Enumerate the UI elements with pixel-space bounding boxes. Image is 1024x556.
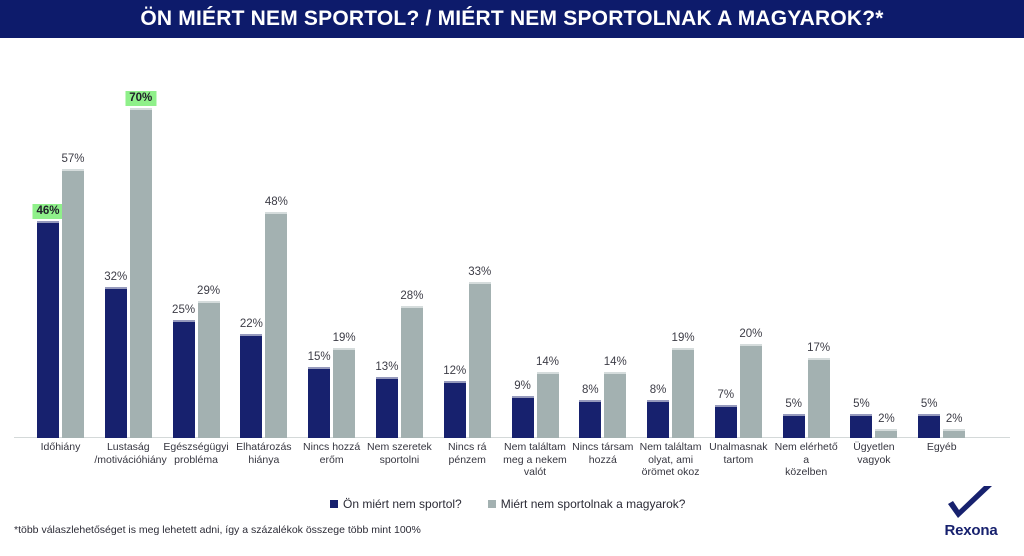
- bar-value-label: 2%: [946, 413, 963, 426]
- legend-swatch-icon: [330, 500, 338, 508]
- bar-value-label: 9%: [514, 380, 531, 393]
- x-axis-label-line: Lustaság: [94, 441, 162, 454]
- bar-value-label: 8%: [582, 384, 599, 397]
- x-axis-label: Nem találtamolyat, amiörömet okoz: [637, 441, 705, 479]
- bar-value-label: 46%: [32, 204, 63, 219]
- bar-group: 5%17%: [783, 45, 830, 438]
- rexona-logo: Rexona: [934, 484, 1008, 542]
- bar-series2[interactable]: 17%: [808, 358, 830, 438]
- x-axis-label-line: Elhatározás: [230, 441, 298, 454]
- x-axis-label: Elhatározáshiánya: [230, 441, 298, 466]
- bar-group: 13%28%: [376, 45, 423, 438]
- bar-highlight-cap: [537, 372, 559, 374]
- bar-highlight-cap: [333, 348, 355, 350]
- bar-value-label: 5%: [785, 398, 802, 411]
- legend-label: Miért nem sportolnak a magyarok?: [501, 497, 686, 511]
- bar-series1[interactable]: 7%: [715, 405, 737, 438]
- x-axis-label: Időhiány: [27, 441, 95, 454]
- bar-series2[interactable]: 20%: [740, 344, 762, 438]
- bar-series2[interactable]: 48%: [265, 212, 287, 438]
- x-axis-label-line: erőm: [298, 454, 366, 467]
- x-axis-label: Egyéb: [908, 441, 976, 454]
- bar-highlight-cap: [376, 377, 398, 379]
- bar-value-label: 32%: [104, 271, 127, 284]
- x-axis-category-labels: IdőhiányLustaság/motivációhiányEgészségü…: [0, 441, 1024, 491]
- bar-series1[interactable]: 5%: [783, 414, 805, 438]
- bar-highlight-cap: [783, 414, 805, 416]
- bar-highlight-cap: [715, 405, 737, 407]
- bar-value-label: 5%: [853, 398, 870, 411]
- x-axis-label-line: pénzem: [433, 454, 501, 467]
- bar-series1[interactable]: 32%: [105, 287, 127, 438]
- bar-series2[interactable]: 70%: [130, 108, 152, 438]
- footnote-text: *több válaszlehetőséget is meg lehetett …: [14, 524, 421, 536]
- bar-series2[interactable]: 2%: [875, 429, 897, 438]
- bar-group: 22%48%: [240, 45, 287, 438]
- bar-highlight-cap: [198, 301, 220, 303]
- bar-value-label: 48%: [265, 196, 288, 209]
- bar-value-label: 33%: [468, 266, 491, 279]
- bar-series1[interactable]: 5%: [850, 414, 872, 438]
- legend-item[interactable]: Ön miért nem sportol?: [330, 497, 462, 511]
- x-axis-label-line: Ügyetlen: [840, 441, 908, 454]
- x-axis-label-line: /motivációhiány: [94, 454, 162, 467]
- x-axis-label: Nem szereteksportolni: [366, 441, 434, 466]
- bar-highlight-cap: [512, 396, 534, 398]
- chart-legend: Ön miért nem sportol?Miért nem sportolna…: [330, 497, 685, 511]
- bar-highlight-cap: [469, 282, 491, 284]
- bar-group: 12%33%: [444, 45, 491, 438]
- bar-highlight-cap: [740, 344, 762, 346]
- bar-value-label: 2%: [878, 413, 895, 426]
- x-axis-label-line: Nem találtam: [637, 441, 705, 454]
- x-axis-label-line: Nem szeretek: [366, 441, 434, 454]
- bar-series1[interactable]: 22%: [240, 334, 262, 438]
- bar-value-label: 70%: [125, 91, 156, 106]
- x-axis-label-line: Időhiány: [27, 441, 95, 454]
- x-axis-label-line: örömet okoz: [637, 466, 705, 479]
- bar-highlight-cap: [850, 414, 872, 416]
- bar-series2[interactable]: 14%: [537, 372, 559, 438]
- bar-series2[interactable]: 2%: [943, 429, 965, 438]
- bar-series1[interactable]: 8%: [647, 400, 669, 438]
- bar-highlight-cap: [943, 429, 965, 431]
- bar-value-label: 14%: [604, 356, 627, 369]
- bar-highlight-cap: [444, 381, 466, 383]
- bar-series2[interactable]: 28%: [401, 306, 423, 438]
- bar-group: 5%2%: [918, 45, 965, 438]
- bar-group: 9%14%: [512, 45, 559, 438]
- bar-highlight-cap: [265, 212, 287, 214]
- legend-label: Ön miért nem sportol?: [343, 497, 462, 511]
- bar-value-label: 15%: [308, 351, 331, 364]
- bar-highlight-cap: [173, 320, 195, 322]
- bar-value-label: 22%: [240, 318, 263, 331]
- bar-series1[interactable]: 5%: [918, 414, 940, 438]
- x-axis-label-line: olyat, ami: [637, 454, 705, 467]
- bar-series1[interactable]: 9%: [512, 396, 534, 438]
- x-axis-label: Lustaság/motivációhiány: [94, 441, 162, 466]
- x-axis-label-line: hozzá: [569, 454, 637, 467]
- bar-value-label: 29%: [197, 285, 220, 298]
- page-title: ÖN MIÉRT NEM SPORTOL? / MIÉRT NEM SPORTO…: [140, 7, 883, 31]
- bar-highlight-cap: [918, 414, 940, 416]
- x-axis-label-line: Nincs hozzá: [298, 441, 366, 454]
- bar-value-label: 13%: [375, 361, 398, 374]
- rexona-check-icon: [934, 484, 1008, 524]
- bar-series2[interactable]: 14%: [604, 372, 626, 438]
- x-axis-label-line: valót: [501, 466, 569, 479]
- bar-value-label: 7%: [718, 389, 735, 402]
- bar-group: 15%19%: [308, 45, 355, 438]
- bar-value-label: 20%: [739, 328, 762, 341]
- bar-highlight-cap: [672, 348, 694, 350]
- x-axis-label-line: Nincs társam: [569, 441, 637, 454]
- x-axis-label-line: Egyéb: [908, 441, 976, 454]
- bar-value-label: 19%: [672, 332, 695, 345]
- bar-value-label: 25%: [172, 304, 195, 317]
- bar-highlight-cap: [105, 287, 127, 289]
- bar-value-label: 19%: [333, 332, 356, 345]
- x-axis-label: Ügyetlenvagyok: [840, 441, 908, 466]
- bar-value-label: 5%: [921, 398, 938, 411]
- chart-header-bar: ÖN MIÉRT NEM SPORTOL? / MIÉRT NEM SPORTO…: [0, 0, 1024, 38]
- legend-item[interactable]: Miért nem sportolnak a magyarok?: [488, 497, 686, 511]
- bar-series2[interactable]: 57%: [62, 169, 84, 438]
- bar-group: 32%70%: [105, 45, 152, 438]
- bar-series1[interactable]: 25%: [173, 320, 195, 438]
- x-axis-label-line: tartom: [704, 454, 772, 467]
- bar-series1[interactable]: 8%: [579, 400, 601, 438]
- bar-highlight-cap: [604, 372, 626, 374]
- bar-group: 7%20%: [715, 45, 762, 438]
- x-axis-label-line: vagyok: [840, 454, 908, 467]
- x-axis-label-line: meg a nekem: [501, 454, 569, 467]
- bar-highlight-cap: [308, 367, 330, 369]
- bar-value-label: 14%: [536, 356, 559, 369]
- bar-series2[interactable]: 29%: [198, 301, 220, 438]
- bar-series1[interactable]: 13%: [376, 377, 398, 438]
- bar-highlight-cap: [647, 400, 669, 402]
- header-divider: [0, 38, 1024, 41]
- x-axis-label-line: Egészségügyi: [162, 441, 230, 454]
- x-axis-label: Nincs társamhozzá: [569, 441, 637, 466]
- bar-highlight-cap: [401, 306, 423, 308]
- bar-highlight-cap: [579, 400, 601, 402]
- bar-series2[interactable]: 19%: [672, 348, 694, 438]
- bar-value-label: 8%: [650, 384, 667, 397]
- x-axis-label-line: Nem elérhető a: [772, 441, 840, 466]
- x-axis-label-line: sportolni: [366, 454, 434, 467]
- x-axis-label-line: hiánya: [230, 454, 298, 467]
- bar-highlight-cap: [62, 169, 84, 171]
- bar-highlight-cap: [37, 221, 59, 223]
- x-axis-label-line: probléma: [162, 454, 230, 467]
- x-axis-label-line: közelben: [772, 466, 840, 479]
- x-axis-label: Nincs hozzáerőm: [298, 441, 366, 466]
- bar-value-label: 57%: [61, 153, 84, 166]
- x-axis-label: Unalmasnaktartom: [704, 441, 772, 466]
- x-axis-label: Nem találtammeg a nekemvalót: [501, 441, 569, 479]
- x-axis-label-line: Nincs rá: [433, 441, 501, 454]
- bar-highlight-cap: [240, 334, 262, 336]
- bar-series2[interactable]: 19%: [333, 348, 355, 438]
- x-axis-label-line: Unalmasnak: [704, 441, 772, 454]
- bar-group: 5%2%: [850, 45, 897, 438]
- bar-value-label: 17%: [807, 342, 830, 355]
- bar-series2[interactable]: 33%: [469, 282, 491, 438]
- rexona-wordmark: Rexona: [934, 522, 1008, 539]
- bar-group: 8%14%: [579, 45, 626, 438]
- x-axis-label: Nem elérhető aközelben: [772, 441, 840, 479]
- bar-series1[interactable]: 46%: [37, 221, 59, 438]
- bar-group: 8%19%: [647, 45, 694, 438]
- bar-series1[interactable]: 15%: [308, 367, 330, 438]
- bar-highlight-cap: [808, 358, 830, 360]
- x-axis-label: Egészségügyiprobléma: [162, 441, 230, 466]
- x-axis-label-line: Nem találtam: [501, 441, 569, 454]
- bar-group: 46%57%: [37, 45, 84, 438]
- bar-highlight-cap: [875, 429, 897, 431]
- legend-swatch-icon: [488, 500, 496, 508]
- x-axis-label: Nincs rápénzem: [433, 441, 501, 466]
- bar-highlight-cap: [130, 108, 152, 110]
- bar-chart-plot-area: 46%57%32%70%25%29%22%48%15%19%13%28%12%3…: [0, 44, 1024, 439]
- bar-value-label: 12%: [443, 365, 466, 378]
- bar-value-label: 28%: [400, 290, 423, 303]
- bar-series1[interactable]: 12%: [444, 381, 466, 438]
- bar-group: 25%29%: [173, 45, 220, 438]
